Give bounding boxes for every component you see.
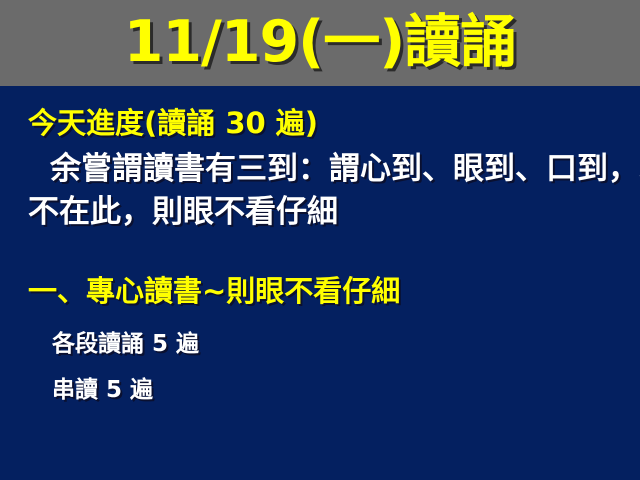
section-one-heading: 一、專心讀書~則眼不看仔細 <box>28 274 400 308</box>
slide-title: 11/19(一)讀誦 <box>0 5 640 79</box>
section-one-detail-item: 各段讀誦 5 遍 <box>52 330 199 358</box>
slide-title-bar: 11/19(一)讀誦 <box>0 0 640 86</box>
presentation-slide: 11/19(一)讀誦 今天進度(讀誦 30 遍) 余嘗謂讀書有三到：謂心到、眼到… <box>0 0 640 480</box>
section-one-detail-item: 串讀 5 遍 <box>52 376 153 404</box>
slide-body: 今天進度(讀誦 30 遍) 余嘗謂讀書有三到：謂心到、眼到、口到，心不在此，則眼… <box>0 86 640 480</box>
today-progress-text: 余嘗謂讀書有三到：謂心到、眼到、口到，心不在此，則眼不看仔細 <box>28 148 640 234</box>
today-progress-heading: 今天進度(讀誦 30 遍) <box>28 106 318 140</box>
